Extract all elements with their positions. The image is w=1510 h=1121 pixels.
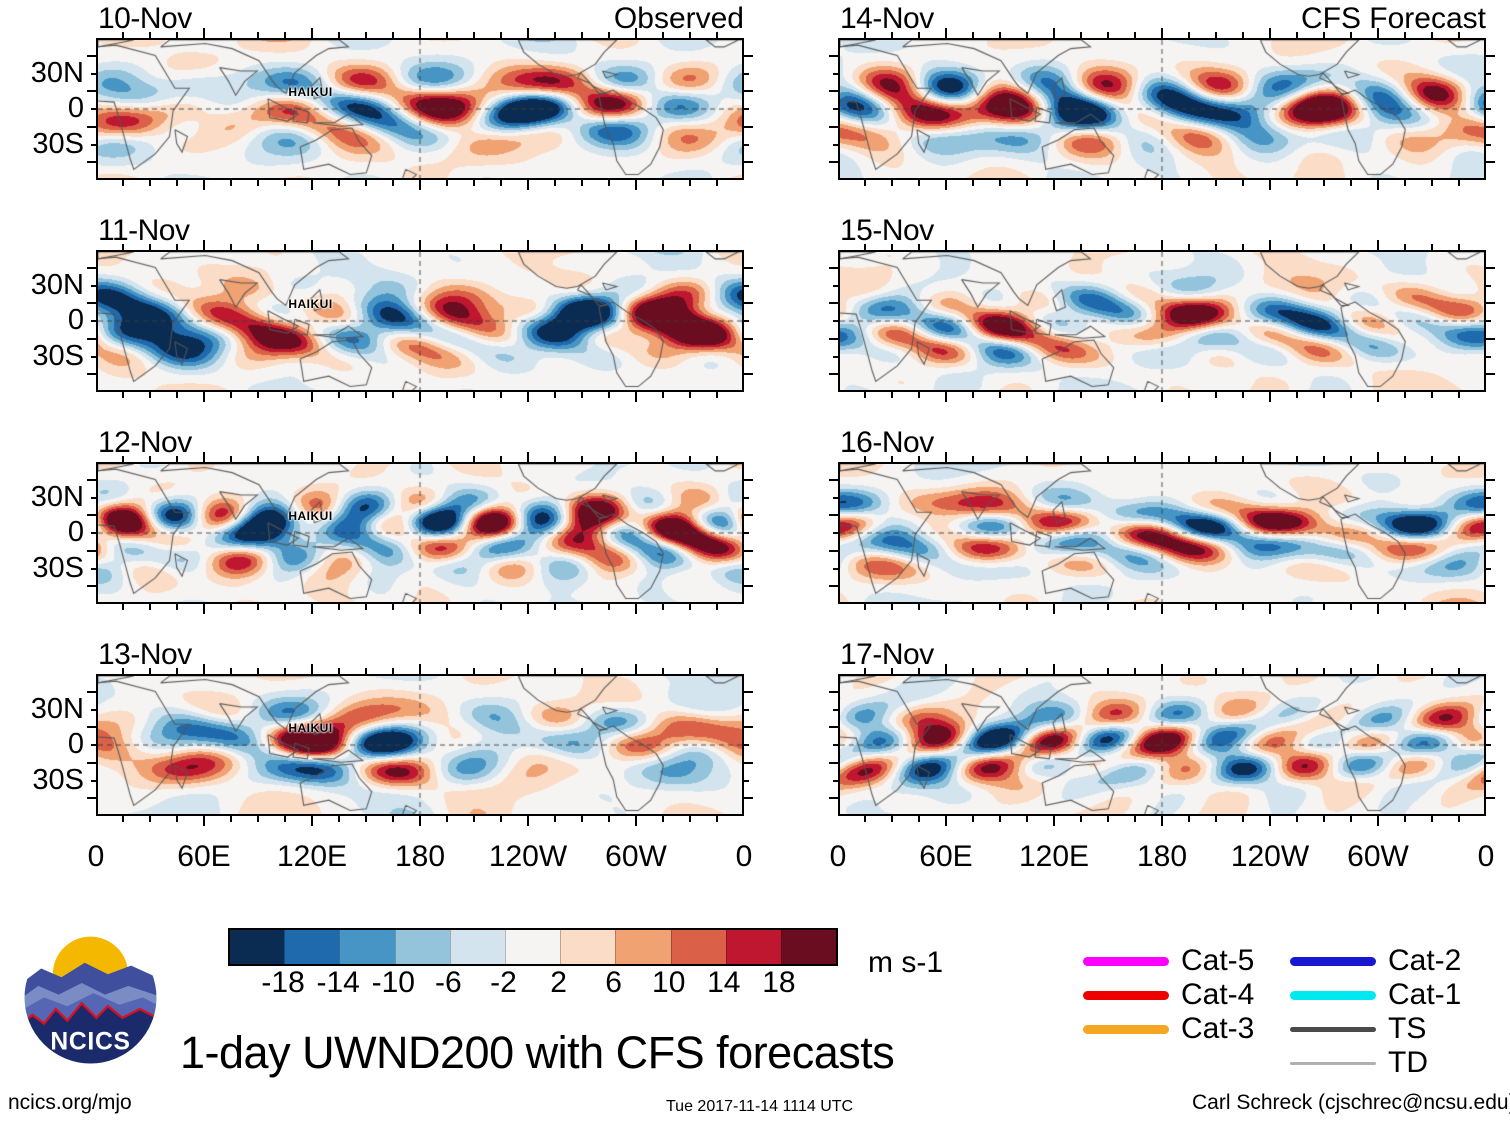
- x-axis-tick: [500, 456, 502, 462]
- ytick-label-30n: 30N: [0, 695, 84, 724]
- x-axis-tick: [1377, 180, 1379, 190]
- x-axis-tick: [1350, 244, 1352, 250]
- ytick-label-30s: 30S: [0, 342, 84, 371]
- x-axis-tick: [1269, 240, 1271, 250]
- x-axis-tick: [945, 180, 947, 190]
- y-axis-tick: [829, 726, 838, 728]
- y-axis-tick: [833, 356, 838, 358]
- y-axis-tick: [744, 691, 753, 693]
- x-axis-tick: [446, 668, 448, 674]
- y-axis-tick: [1486, 108, 1491, 110]
- y-axis-tick: [1486, 55, 1495, 57]
- x-axis-tick: [891, 816, 893, 822]
- legend-item-td: TD: [1290, 1046, 1461, 1080]
- x-axis-tick: [891, 32, 893, 38]
- x-axis-tick: [500, 180, 502, 186]
- x-axis-tick: [608, 32, 610, 38]
- y-axis-tick: [1486, 568, 1491, 570]
- x-axis-tick: [311, 816, 313, 826]
- y-axis-tick: [744, 285, 749, 287]
- map-panel-11-nov: HAIKUI: [96, 250, 744, 392]
- x-axis-tick: [527, 604, 529, 614]
- y-axis-tick: [1486, 479, 1495, 481]
- x-axis-tick: [473, 668, 475, 674]
- y-axis-tick: [1486, 285, 1491, 287]
- colorbar-segment: [560, 930, 615, 964]
- x-axis-tick: [149, 816, 151, 822]
- y-axis-tick: [829, 126, 838, 128]
- legend-swatch-td: [1290, 1062, 1376, 1065]
- ytick-label-0: 0: [0, 94, 84, 123]
- x-axis-tick: [554, 180, 556, 186]
- x-axis-tick: [1188, 668, 1190, 674]
- x-axis-tick: [608, 604, 610, 610]
- x-axis-tick: [419, 28, 421, 38]
- x-axis-tick: [864, 604, 866, 610]
- x-axis-tick: [1350, 32, 1352, 38]
- ncics-logo: NCICS: [18, 925, 163, 1070]
- x-axis-tick: [1080, 32, 1082, 38]
- x-axis-tick: [1026, 180, 1028, 186]
- x-axis-tick: [230, 668, 232, 674]
- x-axis-tick: [554, 244, 556, 250]
- y-axis-tick: [1486, 73, 1491, 75]
- legend-label-ts: TS: [1388, 1014, 1426, 1044]
- x-axis-tick: [527, 664, 529, 674]
- x-axis-tick: [419, 664, 421, 674]
- x-axis-tick: [203, 664, 205, 674]
- x-axis-tick: [1242, 604, 1244, 610]
- y-axis-tick: [91, 744, 96, 746]
- x-axis-tick: [554, 816, 556, 822]
- legend-label-cat-5: Cat-5: [1181, 946, 1254, 976]
- x-axis-tick: [1026, 668, 1028, 674]
- x-axis-tick: [999, 32, 1001, 38]
- x-axis-tick: [972, 604, 974, 610]
- x-axis-tick: [149, 32, 151, 38]
- x-axis-tick: [999, 392, 1001, 398]
- x-axis-tick: [446, 604, 448, 610]
- xtick-label: 120W: [1231, 842, 1309, 872]
- x-axis-tick: [1134, 668, 1136, 674]
- x-axis-tick: [230, 32, 232, 38]
- x-axis-tick: [284, 668, 286, 674]
- y-axis-tick: [1486, 532, 1491, 534]
- x-axis-tick: [1215, 456, 1217, 462]
- ncics-logo-text: NCICS: [50, 1029, 130, 1056]
- x-axis-tick: [203, 392, 205, 402]
- x-axis-tick: [338, 816, 340, 822]
- x-axis-tick: [473, 816, 475, 822]
- y-axis-tick: [829, 90, 838, 92]
- x-axis-tick: [1269, 180, 1271, 190]
- x-axis-tick: [1161, 664, 1163, 674]
- uwnd200-anomaly-field: [840, 676, 1484, 814]
- x-axis-tick: [1161, 816, 1163, 826]
- x-axis-tick: [203, 816, 205, 826]
- y-axis-tick: [1486, 161, 1495, 163]
- y-axis-tick: [87, 90, 96, 92]
- ytick-label-30n: 30N: [0, 59, 84, 88]
- y-axis-tick: [829, 338, 838, 340]
- x-axis-tick: [1161, 452, 1163, 462]
- x-axis-tick: [945, 452, 947, 462]
- x-axis-tick: [1080, 244, 1082, 250]
- x-axis-tick: [473, 244, 475, 250]
- x-axis-tick: [1161, 392, 1163, 402]
- x-axis-tick: [945, 392, 947, 402]
- x-axis-tick: [500, 244, 502, 250]
- x-axis-tick: [1107, 604, 1109, 610]
- x-axis-tick: [230, 180, 232, 186]
- x-axis-tick: [446, 180, 448, 186]
- x-axis-tick: [662, 32, 664, 38]
- x-axis-tick: [338, 456, 340, 462]
- x-axis-tick: [689, 244, 691, 250]
- x-axis-tick: [945, 664, 947, 674]
- x-axis-tick: [1215, 668, 1217, 674]
- x-axis-tick: [1053, 452, 1055, 462]
- y-axis-tick: [1486, 585, 1495, 587]
- x-axis-tick: [176, 604, 178, 610]
- y-axis-tick: [744, 762, 753, 764]
- x-axis-tick: [1377, 28, 1379, 38]
- x-axis-tick: [918, 392, 920, 398]
- y-axis-tick: [744, 797, 753, 799]
- y-axis-tick: [833, 320, 838, 322]
- x-axis-tick: [554, 32, 556, 38]
- x-axis-tick: [972, 244, 974, 250]
- uwnd200-anomaly-field: [98, 40, 742, 178]
- y-axis-tick: [744, 90, 753, 92]
- x-axis-tick: [635, 452, 637, 462]
- y-axis-tick: [87, 762, 96, 764]
- xtick-label: 60E: [919, 842, 972, 872]
- x-axis-tick: [1134, 456, 1136, 462]
- x-axis-tick: [716, 392, 718, 398]
- x-axis-tick: [203, 452, 205, 462]
- x-axis-tick: [1431, 244, 1433, 250]
- x-axis-tick: [1080, 180, 1082, 186]
- x-axis-tick: [1431, 668, 1433, 674]
- cyclone-legend-right: Cat-2Cat-1TSTD: [1290, 944, 1461, 1080]
- x-axis-tick: [864, 180, 866, 186]
- x-axis-tick: [1026, 32, 1028, 38]
- x-axis-tick: [1377, 664, 1379, 674]
- x-axis-tick: [1404, 244, 1406, 250]
- x-axis-tick: [203, 28, 205, 38]
- x-axis-tick: [1377, 392, 1379, 402]
- x-axis-tick: [1188, 816, 1190, 822]
- x-axis-tick: [1404, 180, 1406, 186]
- x-axis-tick: [1242, 668, 1244, 674]
- x-axis-tick: [419, 180, 421, 190]
- x-axis-tick: [608, 392, 610, 398]
- x-axis-tick: [1404, 604, 1406, 610]
- x-axis-tick: [230, 244, 232, 250]
- xtick-label: 120E: [277, 842, 347, 872]
- y-axis-tick: [744, 126, 753, 128]
- legend-item-cat-1: Cat-1: [1290, 978, 1461, 1012]
- x-axis-tick: [149, 668, 151, 674]
- colorbar-tick-label: -6: [435, 968, 462, 998]
- y-axis-tick: [1486, 726, 1495, 728]
- y-axis-tick: [744, 320, 749, 322]
- x-axis-tick: [284, 244, 286, 250]
- x-axis-tick: [1431, 392, 1433, 398]
- x-axis-tick: [1107, 244, 1109, 250]
- x-axis-tick: [689, 816, 691, 822]
- x-axis-tick: [918, 816, 920, 822]
- x-axis-tick: [257, 816, 259, 822]
- x-axis-tick: [203, 604, 205, 614]
- y-axis-tick: [744, 744, 749, 746]
- x-axis-tick: [1350, 604, 1352, 610]
- x-axis-tick: [999, 668, 1001, 674]
- x-axis-tick: [1053, 28, 1055, 38]
- x-axis-tick: [1107, 456, 1109, 462]
- x-axis-tick: [635, 240, 637, 250]
- x-axis-tick: [392, 668, 394, 674]
- xtick-label: 120W: [489, 842, 567, 872]
- x-axis-tick: [1026, 456, 1028, 462]
- y-axis-tick: [87, 726, 96, 728]
- y-axis-tick: [1486, 550, 1495, 552]
- x-axis-tick: [1134, 32, 1136, 38]
- x-axis-tick: [1323, 392, 1325, 398]
- y-axis-tick: [744, 780, 749, 782]
- x-axis-tick: [716, 604, 718, 610]
- x-axis-tick: [1026, 244, 1028, 250]
- x-axis-tick: [581, 392, 583, 398]
- x-axis-tick: [1215, 180, 1217, 186]
- x-axis-tick: [662, 180, 664, 186]
- x-axis-tick: [1053, 664, 1055, 674]
- x-axis-tick: [419, 452, 421, 462]
- x-axis-tick: [257, 668, 259, 674]
- x-axis-tick: [1296, 604, 1298, 610]
- column-header-forecast: CFS Forecast: [1256, 4, 1486, 34]
- x-axis-tick: [945, 28, 947, 38]
- x-axis-tick: [1161, 604, 1163, 614]
- x-axis-tick: [284, 816, 286, 822]
- x-axis-tick: [338, 604, 340, 610]
- y-axis-tick: [91, 532, 96, 534]
- y-axis-tick: [1486, 780, 1491, 782]
- x-axis-tick: [284, 604, 286, 610]
- panel-date-label: 10-Nov: [98, 4, 192, 34]
- x-axis-tick: [1188, 392, 1190, 398]
- y-axis-tick: [1486, 144, 1491, 146]
- x-axis-tick: [999, 180, 1001, 186]
- y-axis-tick: [87, 161, 96, 163]
- ytick-label-30s: 30S: [0, 130, 84, 159]
- x-axis-tick: [581, 816, 583, 822]
- x-axis-tick: [918, 668, 920, 674]
- y-axis-tick: [829, 762, 838, 764]
- x-axis-tick: [257, 456, 259, 462]
- x-axis-tick: [662, 604, 664, 610]
- colorbar-segment: [505, 930, 560, 964]
- x-axis-tick: [1431, 456, 1433, 462]
- uwnd200-anomaly-field: [98, 676, 742, 814]
- x-axis-tick: [972, 180, 974, 186]
- x-axis-tick: [662, 816, 664, 822]
- x-axis-tick: [1431, 816, 1433, 822]
- x-axis-tick: [446, 32, 448, 38]
- x-axis-tick: [392, 456, 394, 462]
- ytick-label-0: 0: [0, 518, 84, 547]
- y-axis-tick: [1486, 797, 1495, 799]
- legend-swatch-cat-5: [1083, 957, 1169, 966]
- x-axis-tick: [527, 392, 529, 402]
- y-axis-tick: [833, 780, 838, 782]
- y-axis-tick: [744, 55, 753, 57]
- x-axis-tick: [338, 668, 340, 674]
- panel-date-label: 12-Nov: [98, 428, 192, 458]
- x-axis-tick: [473, 604, 475, 610]
- x-axis-tick: [635, 604, 637, 614]
- footer-site-link[interactable]: ncics.org/mjo: [8, 1092, 132, 1113]
- ytick-label-0: 0: [0, 306, 84, 335]
- column-header-observed: Observed: [514, 4, 744, 34]
- legend-label-cat-4: Cat-4: [1181, 980, 1254, 1010]
- y-axis-tick: [87, 514, 96, 516]
- y-axis-tick: [91, 780, 96, 782]
- x-axis-tick: [230, 392, 232, 398]
- x-axis-tick: [446, 456, 448, 462]
- x-axis-tick: [1026, 604, 1028, 610]
- x-axis-tick: [1350, 392, 1352, 398]
- legend-label-cat-2: Cat-2: [1388, 946, 1461, 976]
- x-axis-tick: [716, 816, 718, 822]
- x-axis-tick: [864, 244, 866, 250]
- y-axis-tick: [1486, 126, 1495, 128]
- x-axis-tick: [1107, 32, 1109, 38]
- legend-swatch-cat-1: [1290, 991, 1376, 1000]
- x-axis-tick: [284, 180, 286, 186]
- y-axis-tick: [744, 108, 749, 110]
- x-axis-tick: [1296, 456, 1298, 462]
- x-axis-tick: [1431, 180, 1433, 186]
- colorbar-segment: [781, 930, 836, 964]
- x-axis-tick: [1188, 604, 1190, 610]
- x-axis-tick: [257, 180, 259, 186]
- x-axis-tick: [1404, 668, 1406, 674]
- x-axis-tick: [918, 180, 920, 186]
- x-axis-tick: [419, 604, 421, 614]
- y-axis-tick: [1486, 744, 1491, 746]
- x-axis-tick: [1350, 456, 1352, 462]
- x-axis-tick: [1458, 604, 1460, 610]
- x-axis-tick: [891, 244, 893, 250]
- x-axis-tick: [1458, 456, 1460, 462]
- x-axis-tick: [662, 392, 664, 398]
- x-axis-tick: [365, 244, 367, 250]
- xtick-label: 60E: [177, 842, 230, 872]
- y-axis-tick: [829, 161, 838, 163]
- x-axis-tick: [1350, 668, 1352, 674]
- colorbar-tick-label: -10: [372, 968, 415, 998]
- panel-date-label: 15-Nov: [840, 216, 934, 246]
- legend-label-td: TD: [1388, 1048, 1428, 1078]
- x-axis-tick: [1458, 392, 1460, 398]
- colorbar-segment: [395, 930, 450, 964]
- x-axis-tick: [1296, 816, 1298, 822]
- x-axis-tick: [1134, 392, 1136, 398]
- x-axis-tick: [1323, 668, 1325, 674]
- x-axis-tick: [999, 244, 1001, 250]
- x-axis-tick: [176, 816, 178, 822]
- x-axis-tick: [891, 668, 893, 674]
- x-axis-tick: [365, 32, 367, 38]
- x-axis-tick: [1350, 180, 1352, 186]
- x-axis-tick: [864, 668, 866, 674]
- y-axis-tick: [91, 709, 96, 711]
- x-axis-tick: [945, 816, 947, 826]
- x-axis-tick: [176, 392, 178, 398]
- x-axis-tick: [311, 664, 313, 674]
- x-axis-tick: [891, 392, 893, 398]
- x-axis-tick: [473, 456, 475, 462]
- xtick-label: 120E: [1019, 842, 1089, 872]
- x-axis-tick: [689, 392, 691, 398]
- x-axis-tick: [1161, 240, 1163, 250]
- x-axis-tick: [365, 456, 367, 462]
- y-axis-tick: [1486, 90, 1495, 92]
- x-axis-tick: [500, 816, 502, 822]
- colorbar-segment: [230, 930, 284, 964]
- figure-title: 1-day UWND200 with CFS forecasts: [180, 1030, 894, 1075]
- y-axis-tick: [833, 285, 838, 287]
- x-axis-tick: [500, 32, 502, 38]
- x-axis-tick: [365, 668, 367, 674]
- legend-swatch-cat-3: [1083, 1025, 1169, 1034]
- x-axis-tick: [122, 244, 124, 250]
- y-axis-tick: [744, 73, 749, 75]
- y-axis-tick: [744, 338, 753, 340]
- y-axis-tick: [829, 585, 838, 587]
- x-axis-tick: [716, 244, 718, 250]
- colorbar-tick-label: 6: [605, 968, 622, 998]
- x-axis-tick: [1404, 32, 1406, 38]
- x-axis-tick: [122, 180, 124, 186]
- y-axis-tick: [91, 108, 96, 110]
- x-axis-tick: [257, 392, 259, 398]
- xtick-label: 60W: [1347, 842, 1409, 872]
- x-axis-tick: [864, 32, 866, 38]
- legend-item-cat-2: Cat-2: [1290, 944, 1461, 978]
- panel-date-label: 17-Nov: [840, 640, 934, 670]
- y-axis-tick: [87, 55, 96, 57]
- x-axis-tick: [311, 392, 313, 402]
- storm-label-haikui: HAIKUI: [288, 721, 332, 735]
- colorbar-tick-label: 2: [550, 968, 567, 998]
- colorbar: [228, 928, 838, 966]
- x-axis-tick: [1134, 180, 1136, 186]
- x-axis-tick: [419, 392, 421, 402]
- storm-label-haikui: HAIKUI: [288, 509, 332, 523]
- map-panel-10-nov: HAIKUI: [96, 38, 744, 180]
- y-axis-tick: [1486, 320, 1491, 322]
- storm-label-haikui: HAIKUI: [288, 297, 332, 311]
- uwnd200-anomaly-field: [98, 464, 742, 602]
- x-axis-tick: [716, 668, 718, 674]
- x-axis-tick: [392, 244, 394, 250]
- x-axis-tick: [581, 456, 583, 462]
- x-axis-tick: [392, 816, 394, 822]
- x-axis-tick: [1242, 244, 1244, 250]
